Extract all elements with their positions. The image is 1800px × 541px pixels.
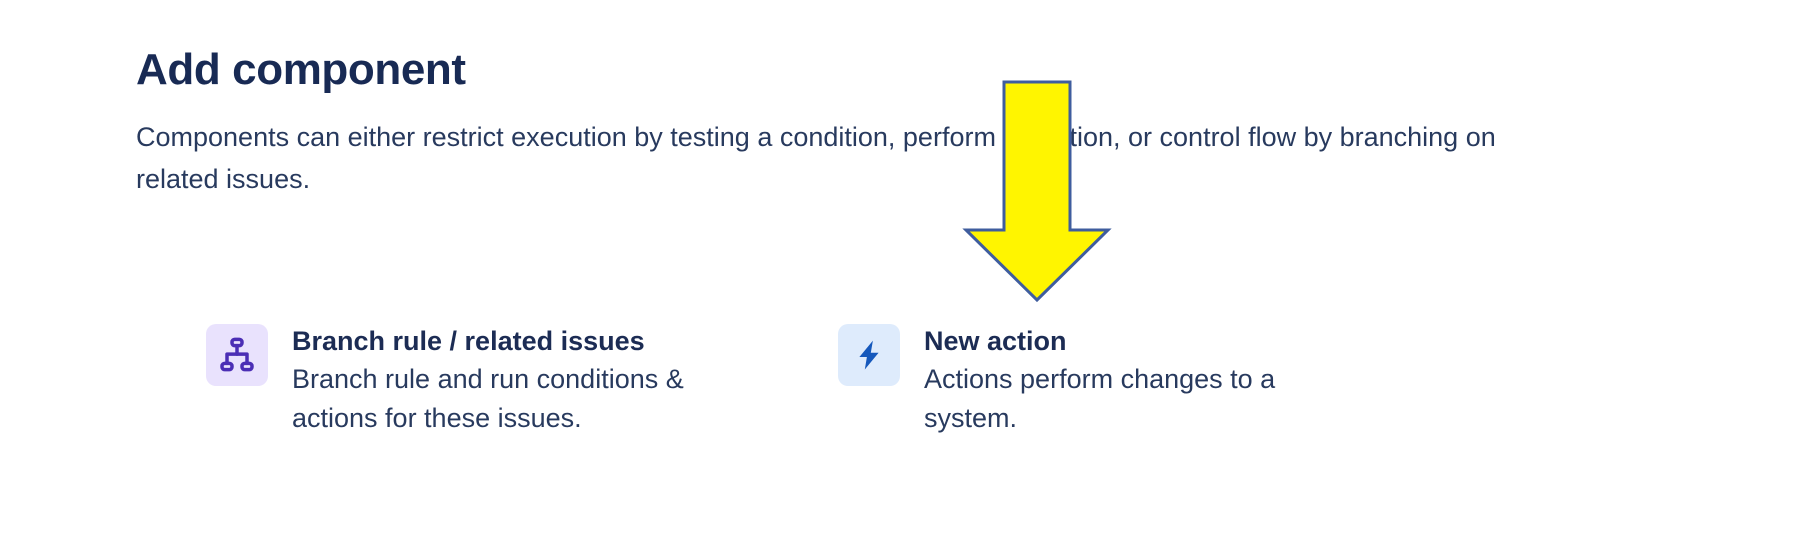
- lightning-bolt-icon: [838, 324, 900, 386]
- branch-hierarchy-icon: [206, 324, 268, 386]
- option-description: Branch rule and run conditions & actions…: [292, 360, 712, 438]
- component-option-list: Branch rule / related issues Branch rule…: [206, 322, 1344, 439]
- panel-description: Components can either restrict execution…: [136, 116, 1504, 201]
- page-title: Add component: [136, 46, 1556, 94]
- option-title: Branch rule / related issues: [292, 322, 712, 360]
- option-title: New action: [924, 322, 1344, 360]
- option-description: Actions perform changes to a system.: [924, 360, 1344, 438]
- option-text-group: Branch rule / related issues Branch rule…: [292, 322, 712, 439]
- add-component-panel: Add component Components can either rest…: [0, 0, 1800, 541]
- panel-content: Add component Components can either rest…: [136, 46, 1556, 201]
- option-new-action[interactable]: New action Actions perform changes to a …: [838, 322, 1344, 439]
- option-text-group: New action Actions perform changes to a …: [924, 322, 1344, 439]
- option-branch-rule-related-issues[interactable]: Branch rule / related issues Branch rule…: [206, 322, 712, 439]
